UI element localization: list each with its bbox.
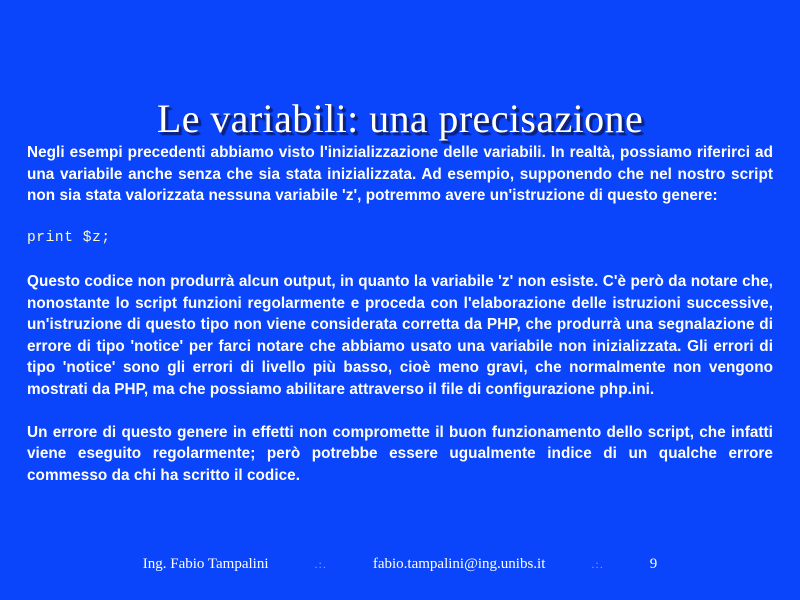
slide-body: Negli esempi precedenti abbiamo visto l'…: [27, 142, 773, 486]
slide-footer: Ing. Fabio Tampalini .:. fabio.tampalini…: [0, 556, 800, 573]
footer-author: Ing. Fabio Tampalini: [143, 556, 269, 573]
footer-separator-icon: .:.: [591, 557, 603, 572]
paragraph-spacer: [27, 250, 773, 272]
paragraph-conclusion: Un errore di questo genere in effetti no…: [27, 422, 773, 487]
presentation-slide: Le variabili: una precisazione Negli ese…: [0, 0, 800, 600]
paragraph-spacer: [27, 400, 773, 422]
paragraph-spacer: [27, 207, 773, 229]
footer-email: fabio.tampalini@ing.unibs.it: [373, 556, 546, 573]
paragraph-intro: Negli esempi precedenti abbiamo visto l'…: [27, 142, 773, 207]
page-title: Le variabili: una precisazione: [0, 95, 800, 142]
code-snippet: print $z;: [27, 228, 773, 250]
footer-page-number: 9: [650, 556, 658, 573]
paragraph-explanation: Questo codice non produrrà alcun output,…: [27, 271, 773, 400]
footer-separator-icon: .:.: [315, 557, 327, 572]
